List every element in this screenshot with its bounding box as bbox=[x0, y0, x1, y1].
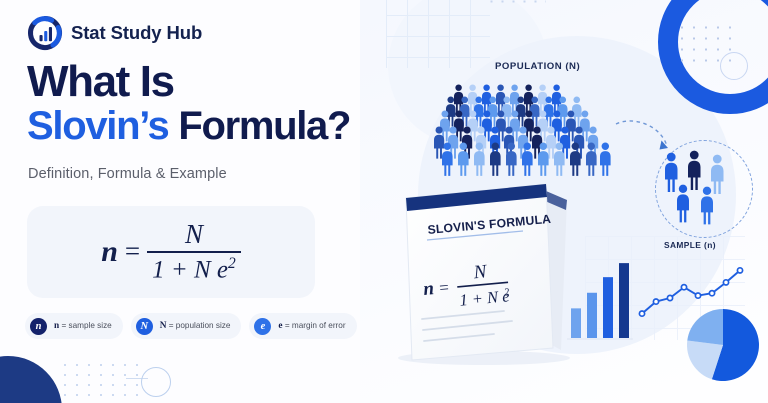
bar bbox=[619, 263, 629, 338]
grid-pattern-top bbox=[386, 0, 490, 68]
line-marker bbox=[723, 280, 728, 285]
sample-people-icon bbox=[663, 150, 743, 226]
population-crowd-icon bbox=[432, 82, 624, 178]
legend-desc-n: = sample size bbox=[59, 321, 112, 330]
formula-denominator: 1 + N e2 bbox=[147, 253, 241, 284]
line-marker bbox=[667, 295, 672, 300]
line-marker bbox=[695, 293, 700, 298]
tent-card: SLOVIN'S FORMULA n = N 1 + N e 2 bbox=[398, 178, 578, 368]
ring-decor-icon bbox=[658, 0, 768, 114]
bar-chart bbox=[567, 252, 635, 344]
bar bbox=[587, 293, 597, 338]
legend-badge-n: n bbox=[30, 318, 47, 335]
bar bbox=[571, 308, 581, 338]
page-title-rest: Formula? bbox=[169, 104, 351, 148]
legend-text-n: n = sample size bbox=[54, 321, 112, 331]
legend-badge-e: e bbox=[254, 318, 271, 335]
line-marker bbox=[653, 299, 658, 304]
dot-grid-top-right bbox=[676, 22, 736, 66]
dot-grid-card-top bbox=[486, 0, 546, 8]
formula-exponent: 2 bbox=[228, 255, 236, 272]
line-marker bbox=[737, 268, 742, 273]
formula-denominator-text: 1 + N e bbox=[152, 257, 228, 284]
svg-text:=: = bbox=[438, 278, 449, 298]
small-ring-decor-icon bbox=[720, 52, 748, 80]
line-marker bbox=[709, 291, 714, 296]
page-title-highlight: Slovin’s bbox=[27, 104, 169, 148]
legend-badge-N: N bbox=[136, 318, 153, 335]
line-marker bbox=[681, 285, 686, 290]
dot-grid-bottom-left bbox=[59, 360, 143, 400]
legend-item-N[interactable]: N N = population size bbox=[131, 313, 242, 339]
population-label: POPULATION (N) bbox=[495, 61, 580, 72]
legend-item-n[interactable]: n n = sample size bbox=[25, 313, 123, 339]
banner-canvas: Stat Study Hub What Is Slovin’s Formula?… bbox=[0, 0, 768, 403]
svg-text:n: n bbox=[422, 278, 434, 300]
brand-logo[interactable]: Stat Study Hub bbox=[28, 16, 202, 50]
ring-decor-bottom-left-icon bbox=[141, 367, 171, 397]
legend-item-e[interactable]: e e = margin of error bbox=[249, 313, 356, 339]
legend-text-N: N = population size bbox=[160, 321, 231, 331]
page-title-line1: What Is bbox=[27, 60, 174, 104]
page-title-line2: Slovin’s Formula? bbox=[27, 106, 350, 146]
legend-text-e: e = margin of error bbox=[278, 321, 345, 331]
bar-chart-ring-icon bbox=[28, 16, 62, 50]
quarter-circle-decor bbox=[0, 356, 62, 403]
formula-card: n = N 1 + N e2 bbox=[27, 206, 315, 298]
pie-slice bbox=[687, 309, 723, 345]
slovins-formula-expression: n = N 1 + N e2 bbox=[101, 219, 241, 284]
legend-row: n n = sample size N N = population size … bbox=[25, 313, 357, 339]
pie-chart bbox=[686, 308, 760, 382]
bar bbox=[603, 277, 613, 338]
formula-numerator: N bbox=[177, 219, 211, 251]
line-marker bbox=[639, 311, 644, 316]
legend-desc-e: = margin of error bbox=[283, 321, 346, 330]
legend-desc-N: = population size bbox=[166, 321, 230, 330]
formula-equals: = bbox=[125, 236, 140, 267]
dot-connector-line bbox=[126, 378, 148, 379]
formula-fraction: N 1 + N e2 bbox=[147, 219, 241, 284]
brand-name: Stat Study Hub bbox=[71, 22, 202, 44]
formula-lhs: n bbox=[101, 235, 118, 269]
page-subtitle: Definition, Formula & Example bbox=[28, 166, 227, 182]
sample-label: SAMPLE (n) bbox=[664, 240, 716, 250]
